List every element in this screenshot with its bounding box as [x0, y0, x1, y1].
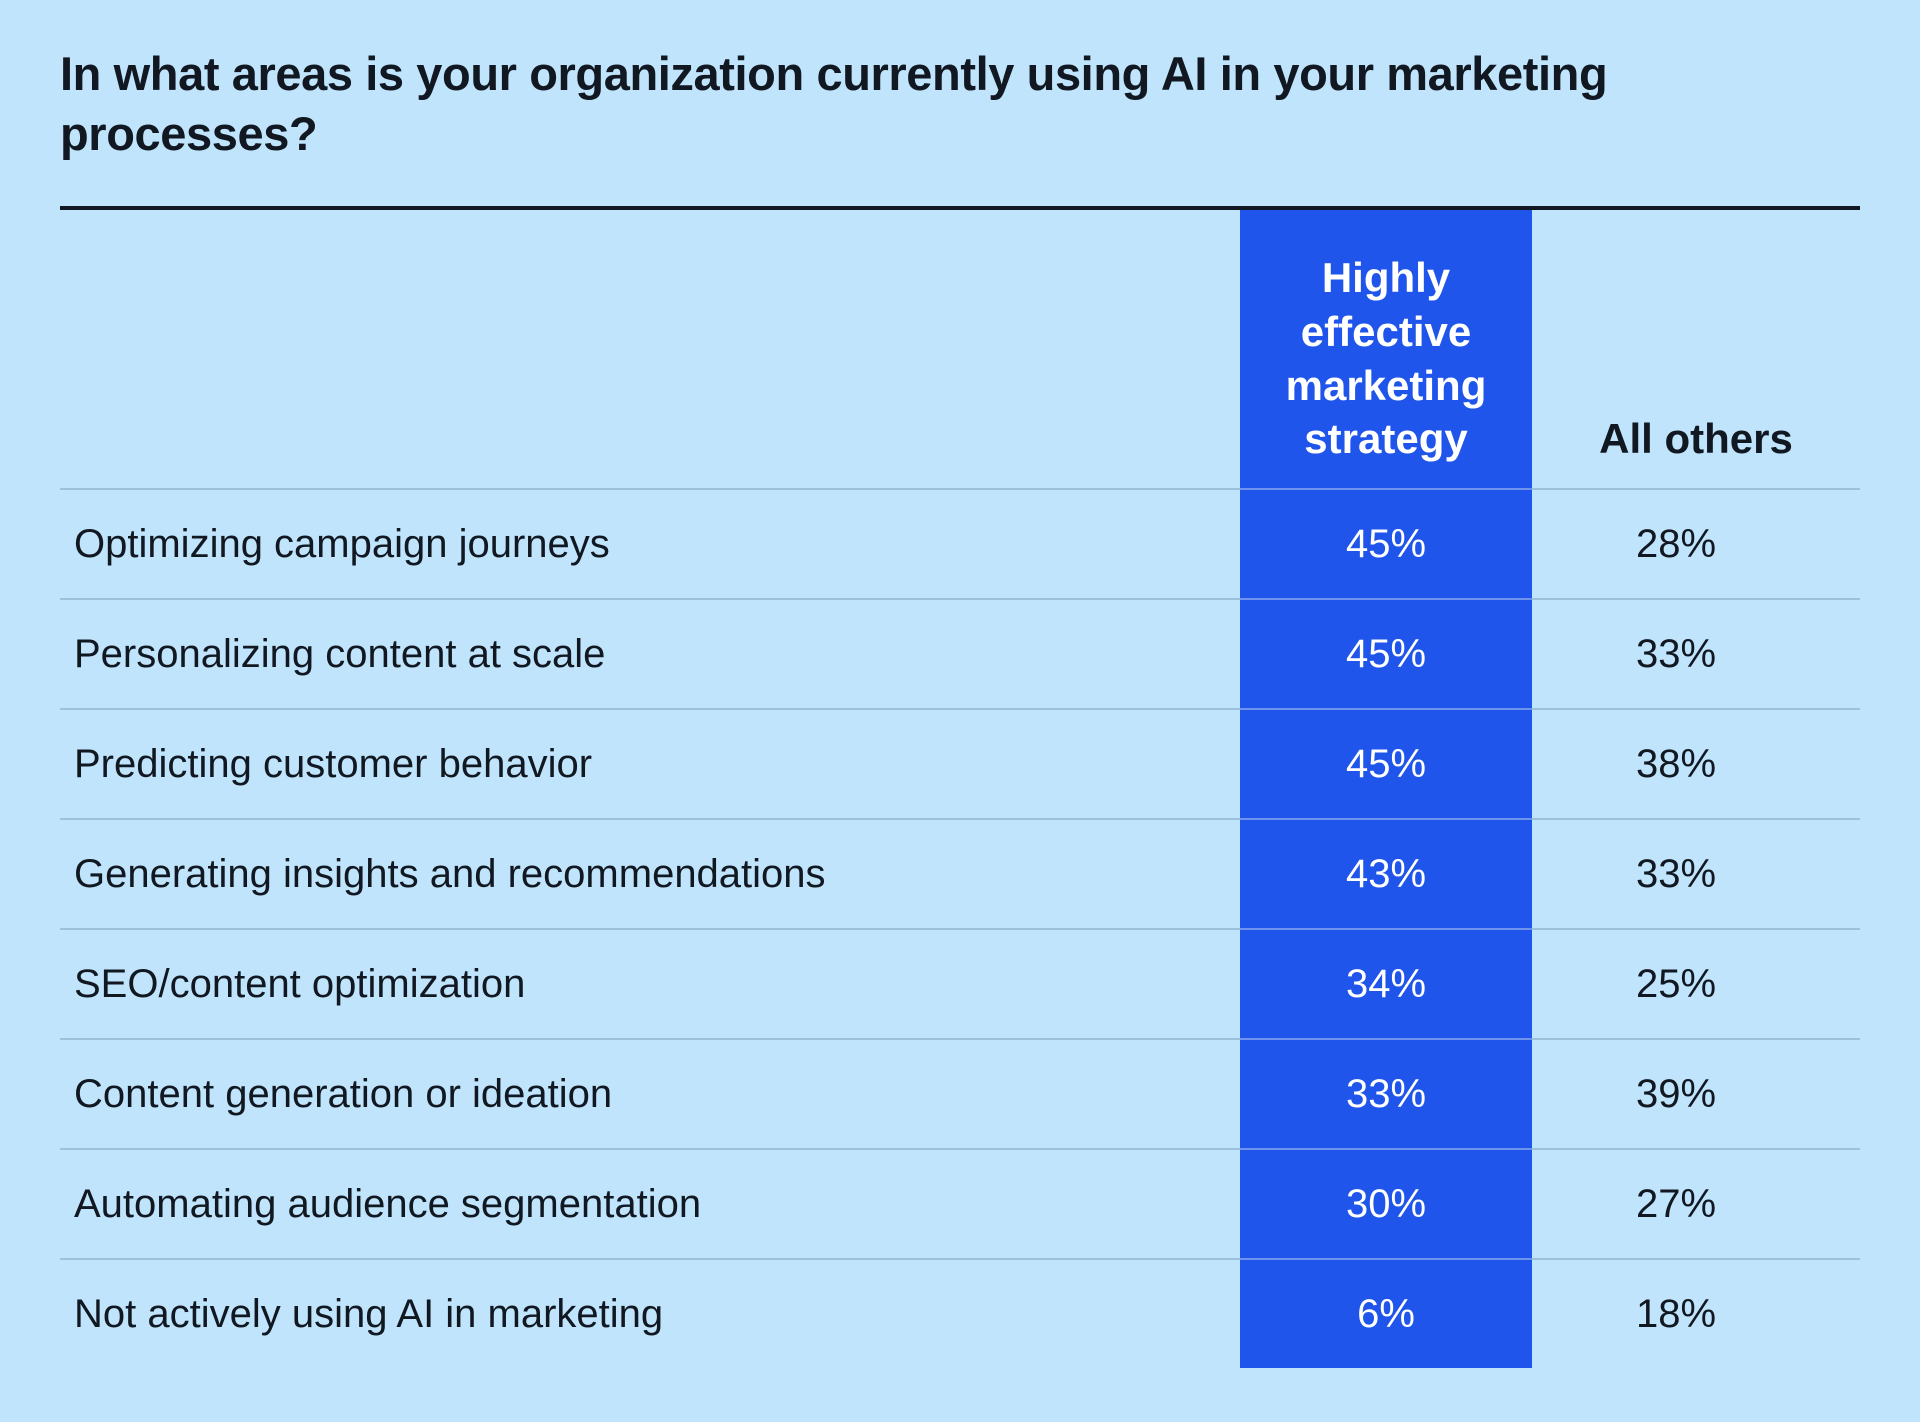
row-label: Predicting customer behavior: [60, 709, 1240, 819]
table-row: Content generation or ideation 33% 39%: [60, 1039, 1860, 1149]
survey-table-container: Highly effective marketing strategy All …: [60, 210, 1860, 1368]
row-value-all-others: 38%: [1532, 709, 1860, 819]
row-value-highly-effective: 6%: [1240, 1259, 1532, 1368]
row-value-all-others: 39%: [1532, 1039, 1860, 1149]
column-header-highly-effective: Highly effective marketing strategy: [1240, 210, 1532, 489]
column-header-label: [60, 210, 1240, 489]
table-row: Not actively using AI in marketing 6% 18…: [60, 1259, 1860, 1368]
table-row: Personalizing content at scale 45% 33%: [60, 599, 1860, 709]
row-value-highly-effective: 45%: [1240, 489, 1532, 599]
table-row: SEO/content optimization 34% 25%: [60, 929, 1860, 1039]
row-label: Optimizing campaign journeys: [60, 489, 1240, 599]
row-value-highly-effective: 34%: [1240, 929, 1532, 1039]
row-label: Generating insights and recommendations: [60, 819, 1240, 929]
row-label: Content generation or ideation: [60, 1039, 1240, 1149]
survey-table: Highly effective marketing strategy All …: [60, 210, 1860, 1368]
page-title: In what areas is your organization curre…: [60, 44, 1760, 164]
table-header: Highly effective marketing strategy All …: [60, 210, 1860, 489]
table-body: Optimizing campaign journeys 45% 28% Per…: [60, 489, 1860, 1368]
table-row: Generating insights and recommendations …: [60, 819, 1860, 929]
table-row: Predicting customer behavior 45% 38%: [60, 709, 1860, 819]
row-label: Personalizing content at scale: [60, 599, 1240, 709]
row-value-all-others: 18%: [1532, 1259, 1860, 1368]
table-row: Optimizing campaign journeys 45% 28%: [60, 489, 1860, 599]
row-label: Automating audience segmentation: [60, 1149, 1240, 1259]
column-header-all-others: All others: [1532, 210, 1860, 489]
row-value-all-others: 28%: [1532, 489, 1860, 599]
header-row: Highly effective marketing strategy All …: [60, 210, 1860, 489]
row-value-highly-effective: 45%: [1240, 709, 1532, 819]
row-value-highly-effective: 33%: [1240, 1039, 1532, 1149]
row-value-highly-effective: 30%: [1240, 1149, 1532, 1259]
row-value-all-others: 33%: [1532, 599, 1860, 709]
row-value-all-others: 27%: [1532, 1149, 1860, 1259]
row-value-highly-effective: 43%: [1240, 819, 1532, 929]
row-label: Not actively using AI in marketing: [60, 1259, 1240, 1368]
row-value-all-others: 25%: [1532, 929, 1860, 1039]
table-row: Automating audience segmentation 30% 27%: [60, 1149, 1860, 1259]
row-value-all-others: 33%: [1532, 819, 1860, 929]
infographic-page: In what areas is your organization curre…: [0, 0, 1920, 1422]
row-label: SEO/content optimization: [60, 929, 1240, 1039]
row-value-highly-effective: 45%: [1240, 599, 1532, 709]
